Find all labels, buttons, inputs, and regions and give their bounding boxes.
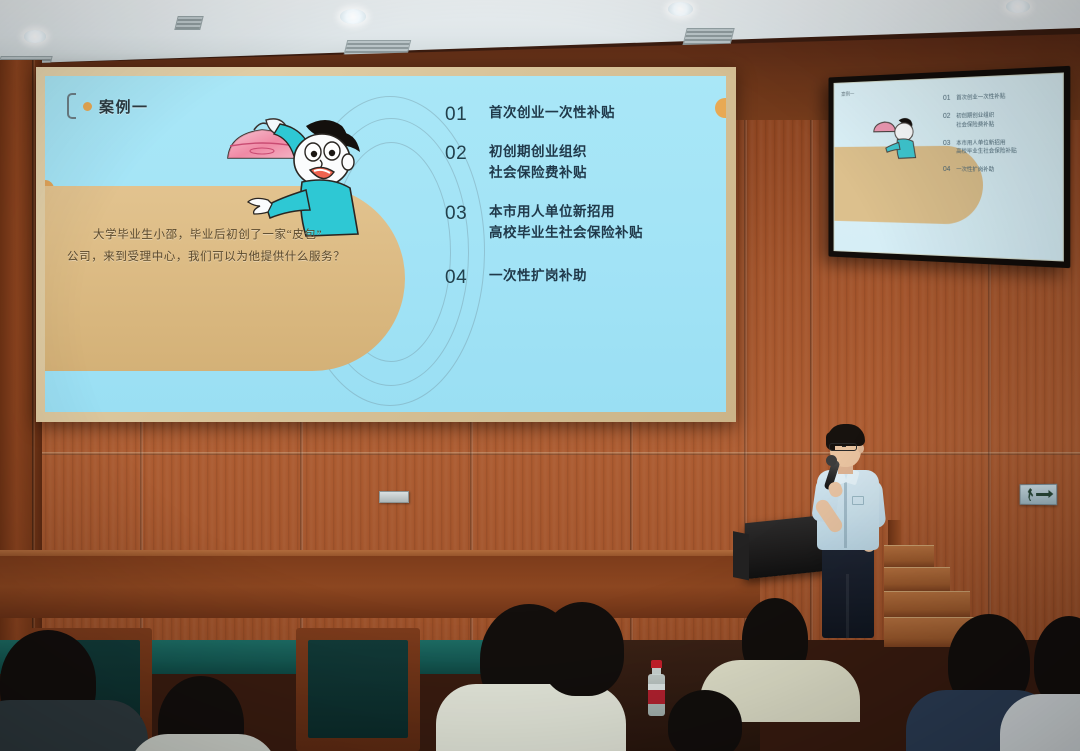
list-item-line: 初创期创业组织 [489,142,587,163]
tv-list-item: 01 首次创业一次性补贴 [943,92,1017,103]
tv-list-line: 社会保险费补贴 [956,120,994,129]
bottle-label [648,690,665,704]
list-item-line: 社会保险费补贴 [489,163,587,184]
presenter-shirt-placket [844,480,847,548]
glasses-icon [829,443,857,451]
tv-list-text: 首次创业一次性补贴 [956,93,1005,103]
list-item-text: 初创期创业组织 社会保险费补贴 [489,142,587,184]
tv-subsidy-list: 01 首次创业一次性补贴 02 初创期创业组织 社会保险费补贴 03 本市用人 [943,92,1017,185]
tv-list-item: 04 一次性扩岗补助 [943,166,1017,175]
list-item-line: 本市用人单位新招用 [489,202,643,223]
chair-backrest [308,640,408,738]
running-person-icon [1027,488,1034,501]
tv-list-number: 01 [943,95,950,104]
bracket-icon [67,93,76,119]
lecture-hall-scene: 案例一 [0,0,1080,751]
tv-list-number: 02 [943,113,950,130]
list-item-line: 一次性扩岗补助 [489,266,587,287]
projection-screen: 案例一 [36,67,736,422]
list-item: 03 本市用人单位新招用 高校毕业生社会保险补贴 [445,202,726,244]
list-item: 02 初创期创业组织 社会保险费补贴 [445,142,726,184]
air-vent [174,16,203,30]
tv-list-text: 一次性扩岗补助 [956,166,994,174]
tv-slide-title: 案例一 [841,91,854,98]
microphone-head [826,455,837,466]
presenter [800,424,910,639]
downlight [340,9,366,24]
downlight [668,2,693,16]
tv-cartoon-svg [867,116,920,162]
audience-head [668,690,742,751]
slide-title-group: 案例一 [67,93,149,119]
tv-list-text: 本市用人单位新招用 高校毕业生社会保险补贴 [956,139,1017,156]
wall-mounted-tv: 案例一 01 首次创业一次性补贴 [828,66,1070,268]
presenter-leg-seam [846,574,849,638]
case-line-2: 公司，来到受理中心，我们可以为他提供什么服务？ [67,251,345,263]
water-bottle[interactable] [648,660,665,716]
tv-cartoon-illustration [867,116,920,162]
list-item-text: 首次创业一次性补贴 [489,103,615,124]
wall-seam-horizontal [0,452,1080,455]
downlight [1006,0,1030,13]
tv-list-item: 03 本市用人单位新招用 高校毕业生社会保险补贴 [943,139,1017,157]
audience-shoulders [0,700,148,751]
tv-list-number: 04 [943,166,950,174]
tv-list-line: 高校毕业生社会保险补贴 [956,147,1017,156]
slide-case-description: 大学毕业生小邵，毕业后初创了一家“皮包” 公司，来到受理中心，我们可以为他提供什… [67,224,397,269]
slide-title: 案例一 [99,96,149,117]
tv-list-line: 初创期创业组织 [956,112,994,121]
stage-front-panel [0,556,760,618]
presenter-shirt-pocket [852,496,864,505]
bottle-cap [651,660,662,668]
list-item: 01 首次创业一次性补贴 [445,103,726,126]
case-line-1: 大学毕业生小邵，毕业后初创了一家“皮包” [67,224,397,246]
slide-subsidy-list: 01 首次创业一次性补贴 02 初创期创业组织 社会保险费补贴 03 本市用人单… [445,101,726,303]
list-item: 04 一次性扩岗补助 [445,266,726,289]
list-item-number: 04 [445,266,489,289]
list-item-number: 02 [445,142,489,165]
arrow-right-icon [1036,493,1049,496]
list-item-line: 首次创业一次性补贴 [489,103,615,124]
list-item-text: 一次性扩岗补助 [489,266,587,287]
tv-slide-mirror: 案例一 01 首次创业一次性补贴 [834,74,1062,261]
downlight [24,30,46,43]
list-item-line: 高校毕业生社会保险补贴 [489,223,643,244]
wall-outlet-plate[interactable] [379,491,409,503]
tv-list-number: 03 [943,140,950,157]
exit-sign [1020,484,1058,505]
bullet-dot-icon [83,102,92,111]
tv-list-item: 02 初创期创业组织 社会保险费补贴 [943,111,1017,130]
audience-head [540,602,624,696]
slide-content: 案例一 [45,76,726,412]
tv-screen: 案例一 01 首次创业一次性补贴 [834,72,1064,261]
list-item-number: 01 [445,103,489,126]
list-item-text: 本市用人单位新招用 高校毕业生社会保险补贴 [489,202,643,244]
list-item-number: 03 [445,202,489,225]
tv-list-text: 初创期创业组织 社会保险费补贴 [956,112,994,130]
